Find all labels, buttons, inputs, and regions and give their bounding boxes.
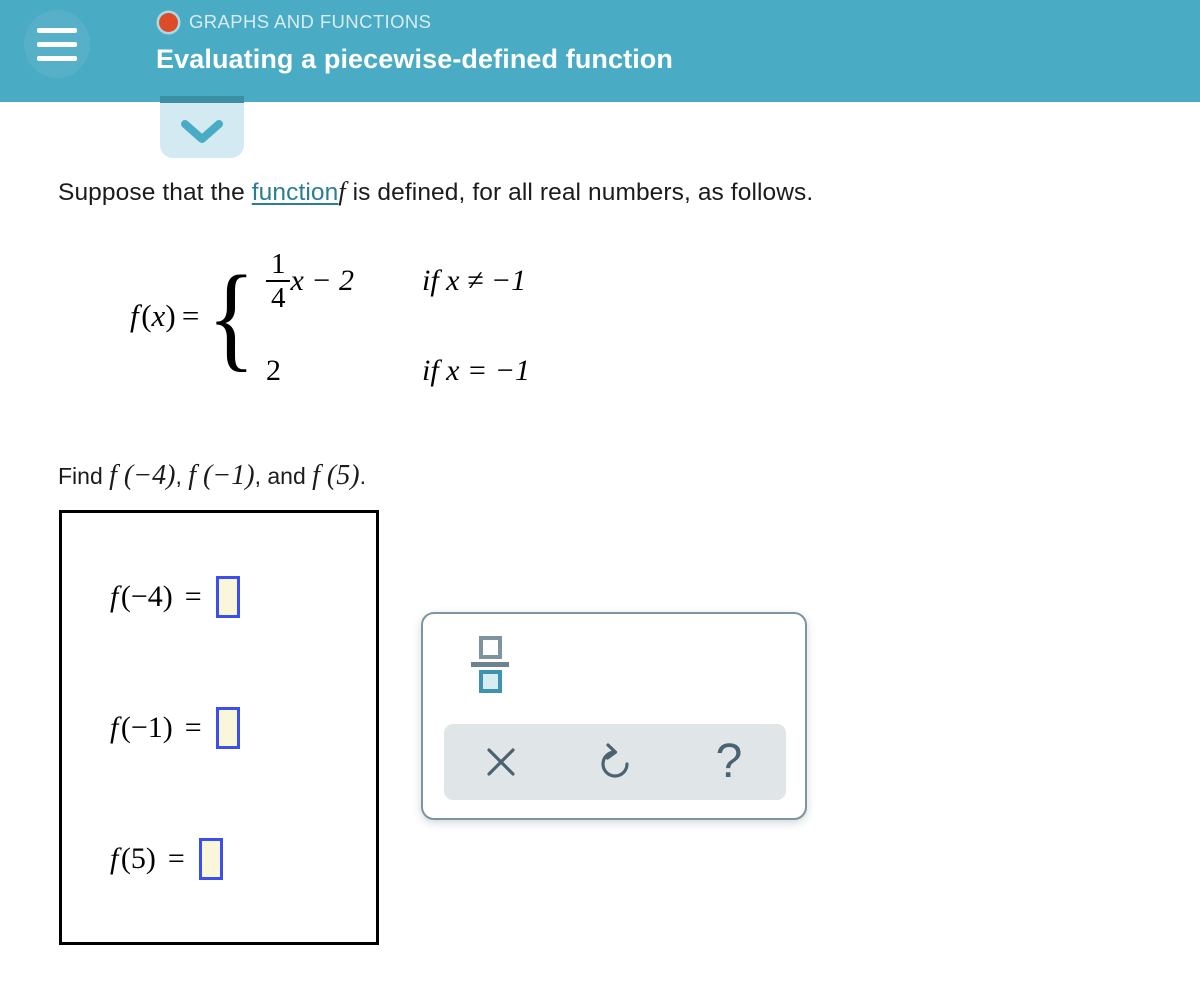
answer-row: f (−4) =: [62, 576, 376, 618]
hamburger-bar: [37, 42, 77, 47]
answer-label: f (5): [110, 842, 156, 876]
fraction-one-fourth: 1 4: [266, 249, 291, 314]
find-conjunction: and: [267, 463, 312, 489]
close-x-icon[interactable]: [466, 732, 536, 792]
statement-variable: f: [338, 177, 345, 206]
answer-box: f (−4) = f (−1) = f (5) =: [59, 510, 379, 945]
record-dot-icon: [159, 13, 178, 32]
function-glossary-link[interactable]: function: [252, 179, 339, 206]
header-text-group: GRAPHS AND FUNCTIONS Evaluating a piecew…: [156, 8, 673, 75]
answer-label: f (−1): [110, 711, 173, 745]
math-palette: ?: [421, 612, 807, 820]
find-item-3: f (5): [312, 460, 359, 491]
equation-cases: 1 4 x − 2 if x ≠ −1 2 if x = −1: [266, 247, 530, 388]
hamburger-bar: [37, 56, 77, 61]
topic-label: GRAPHS AND FUNCTIONS: [189, 11, 431, 33]
find-item-1: f (−4): [109, 460, 175, 491]
answer-row: f (−1) =: [62, 707, 376, 749]
answer-row: f (5) =: [62, 838, 376, 880]
case-row: 2 if x = −1: [266, 354, 530, 388]
problem-statement: Suppose that the functionf is defined, f…: [58, 177, 813, 207]
answer-input-f-minus-4[interactable]: [216, 576, 240, 618]
find-sep-2: ,: [255, 463, 268, 489]
help-question-glyph: ?: [716, 738, 743, 786]
answer-input-f-5[interactable]: [199, 838, 223, 880]
statement-prefix: Suppose that the: [58, 179, 252, 206]
find-sep-1: ,: [175, 463, 188, 489]
equals-sign: =: [185, 580, 202, 614]
case-condition: if x ≠ −1: [422, 264, 526, 298]
find-instruction: Find f (−4), f (−1), and f (5).: [58, 460, 366, 492]
math-palette-symbols: [423, 614, 805, 722]
case-row: 1 4 x − 2 if x ≠ −1: [266, 249, 530, 314]
fraction-denominator: 4: [266, 283, 291, 313]
undo-icon[interactable]: [580, 732, 650, 792]
find-item-2: f (−1): [188, 460, 254, 491]
statement-suffix: is defined, for all real numbers, as fol…: [346, 179, 814, 206]
hamburger-bar: [37, 28, 77, 33]
fraction-numerator-placeholder: [479, 636, 502, 659]
fraction-bar: [471, 662, 509, 667]
find-lead: Find: [58, 463, 109, 489]
answer-label: f (−4): [110, 580, 173, 614]
equation-left-side: f (x) =: [130, 298, 199, 336]
fraction-icon[interactable]: [467, 636, 513, 693]
equals-sign: =: [185, 711, 202, 745]
case-condition: if x = −1: [422, 354, 530, 388]
equals-sign: =: [168, 842, 185, 876]
answer-input-f-minus-1[interactable]: [216, 707, 240, 749]
case-expression: 2: [266, 354, 414, 388]
fraction-denominator-placeholder: [479, 670, 502, 693]
page-title: Evaluating a piecewise-defined function: [156, 44, 673, 75]
chevron-down-icon: [180, 116, 224, 145]
help-question-icon[interactable]: ?: [694, 732, 764, 792]
app-header: GRAPHS AND FUNCTIONS Evaluating a piecew…: [0, 0, 1200, 102]
collapse-panel-tab[interactable]: [160, 102, 244, 158]
hamburger-menu-icon[interactable]: [24, 10, 90, 78]
header-eyebrow-row: GRAPHS AND FUNCTIONS: [156, 8, 673, 36]
case-expression: 1 4 x − 2: [266, 249, 414, 314]
piecewise-equation: f (x) = { 1 4 x − 2 if x ≠ −1 2: [130, 247, 530, 388]
find-terminator: .: [360, 463, 366, 489]
case-brace-icon: {: [208, 265, 256, 369]
math-palette-toolbar: ?: [444, 724, 786, 800]
case-expression-value: 2: [266, 354, 281, 388]
case-expression-rest: x − 2: [290, 264, 354, 298]
fraction-numerator: 1: [266, 249, 291, 279]
